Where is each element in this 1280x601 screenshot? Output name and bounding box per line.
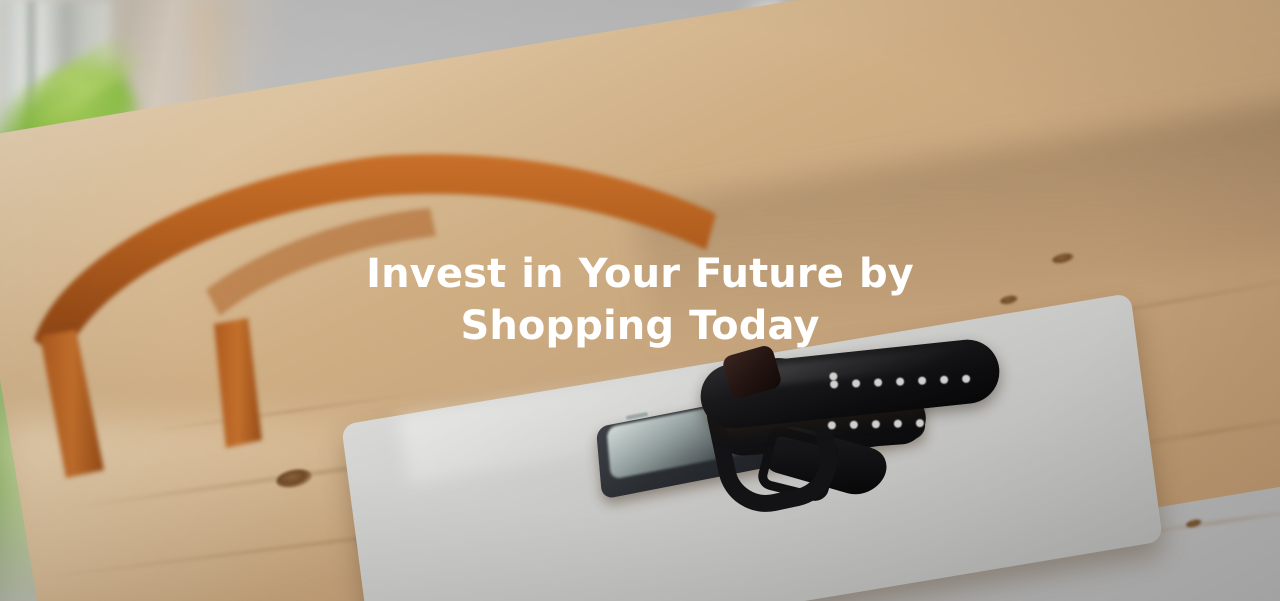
plant-leaf-left — [0, 119, 106, 220]
wood-grain — [32, 503, 628, 580]
smartphone-edge — [602, 417, 919, 492]
wood-grain — [1121, 506, 1280, 538]
fitness-band-holes-upper — [829, 355, 1031, 402]
wood-knot — [275, 466, 314, 490]
wood-knot — [1185, 518, 1202, 529]
plant-leaf-left — [0, 47, 147, 187]
smartphone-screen — [606, 372, 895, 479]
plant-stem-left — [21, 31, 144, 129]
wall-edge-right — [740, 0, 780, 250]
wood-grain — [62, 434, 578, 511]
table-highlight — [0, 420, 520, 601]
fitness-band-tail — [756, 422, 895, 500]
fitness-band-holes-lower — [827, 406, 988, 443]
plant-vine — [980, 40, 1130, 170]
wood-grain — [1081, 410, 1280, 456]
hero-copy-block: Invest in Your Future by Shopping Today — [0, 248, 1280, 352]
hero-banner: Invest in Your Future by Shopping Today — [0, 0, 1280, 601]
fitness-band-lower-strap — [714, 391, 927, 458]
fitness-band-buckle — [755, 424, 840, 504]
red-chair — [795, 0, 1215, 244]
wood-grain — [141, 389, 438, 434]
laptop-highlight — [398, 330, 922, 485]
fitness-band-loop — [698, 349, 847, 521]
smartphone — [596, 364, 926, 499]
fitness-band-tracker-head — [721, 344, 783, 401]
potted-plant — [1130, 0, 1280, 160]
smartphone-speaker — [626, 412, 648, 420]
laptop-side-edge — [356, 404, 1148, 556]
page-title: Invest in Your Future by Shopping Today — [0, 248, 1280, 352]
